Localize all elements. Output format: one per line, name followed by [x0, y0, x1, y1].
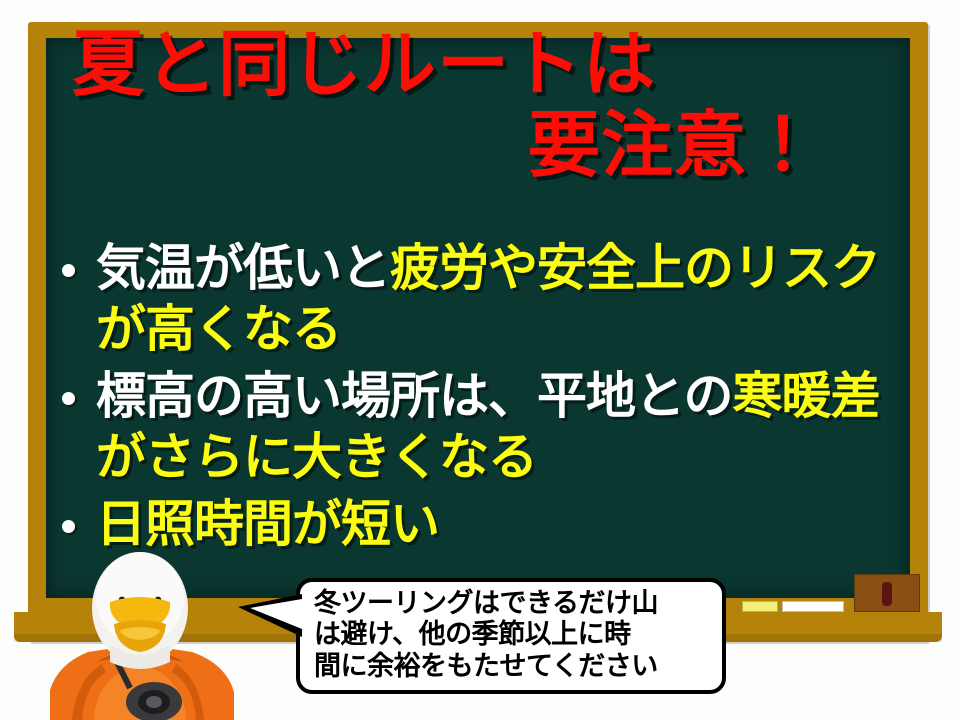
blackboard-eraser-icon — [854, 574, 920, 612]
white-chalk-icon — [782, 601, 844, 612]
speech-bubble-line-1: 冬ツーリングはできるだけ山 — [314, 588, 710, 619]
speech-bubble-line-2: は避け、他の季節以上に時 — [314, 619, 710, 650]
bullet-dot-icon — [62, 520, 75, 533]
list-item: 標高の高い場所は、平地との寒暖差がさらに大きくなる — [52, 366, 902, 488]
bullet-2-text: 標高の高い場所は、平地との寒暖差がさらに大きくなる — [96, 366, 902, 488]
bullet-3-yellow-segment: 日照時間が短い — [96, 495, 439, 553]
bullet-1-yellow-segment-a: 疲労や安全上のリス — [390, 239, 831, 297]
eraser-grip — [882, 582, 892, 606]
title-line-1: 夏と同じルートは — [56, 28, 856, 101]
speech-bubble-tail — [250, 599, 302, 629]
bullet-list: 気温が低いと疲労や安全上のリスクが高くなる 標高の高い場所は、平地との寒暖差がさ… — [52, 238, 902, 561]
slide-title: 夏と同じルートは 要注意！ — [56, 28, 856, 183]
bullet-1-white-segment: 気温が低いと — [96, 239, 390, 297]
bullet-1-text: 気温が低いと疲労や安全上のリスクが高くなる — [96, 238, 902, 360]
bullet-dot-icon — [62, 392, 75, 405]
speech-bubble-line-3: 間に余裕をもたせてください — [314, 651, 710, 682]
bullet-3-text: 日照時間が短い — [96, 494, 902, 555]
list-item: 日照時間が短い — [52, 494, 902, 555]
bullet-2-white-segment: 標高の高い場所は、平地との — [96, 367, 733, 425]
speech-bubble: 冬ツーリングはできるだけ山 は避け、他の季節以上に時 間に余裕をもたせてください — [296, 578, 726, 694]
slide-canvas: 夏と同じルートは 要注意！ 気温が低いと疲労や安全上のリスクが高くなる 標高の高… — [0, 0, 960, 720]
list-item: 気温が低いと疲労や安全上のリスクが高くなる — [52, 238, 902, 360]
bullet-dot-icon — [62, 264, 75, 277]
title-line-2: 要注意！ — [56, 109, 856, 182]
bullet-2-yellow-segment-a: 寒暖 — [733, 367, 831, 425]
yellow-chalk-icon — [742, 601, 778, 612]
duck-mask-rider-figure — [36, 552, 268, 720]
